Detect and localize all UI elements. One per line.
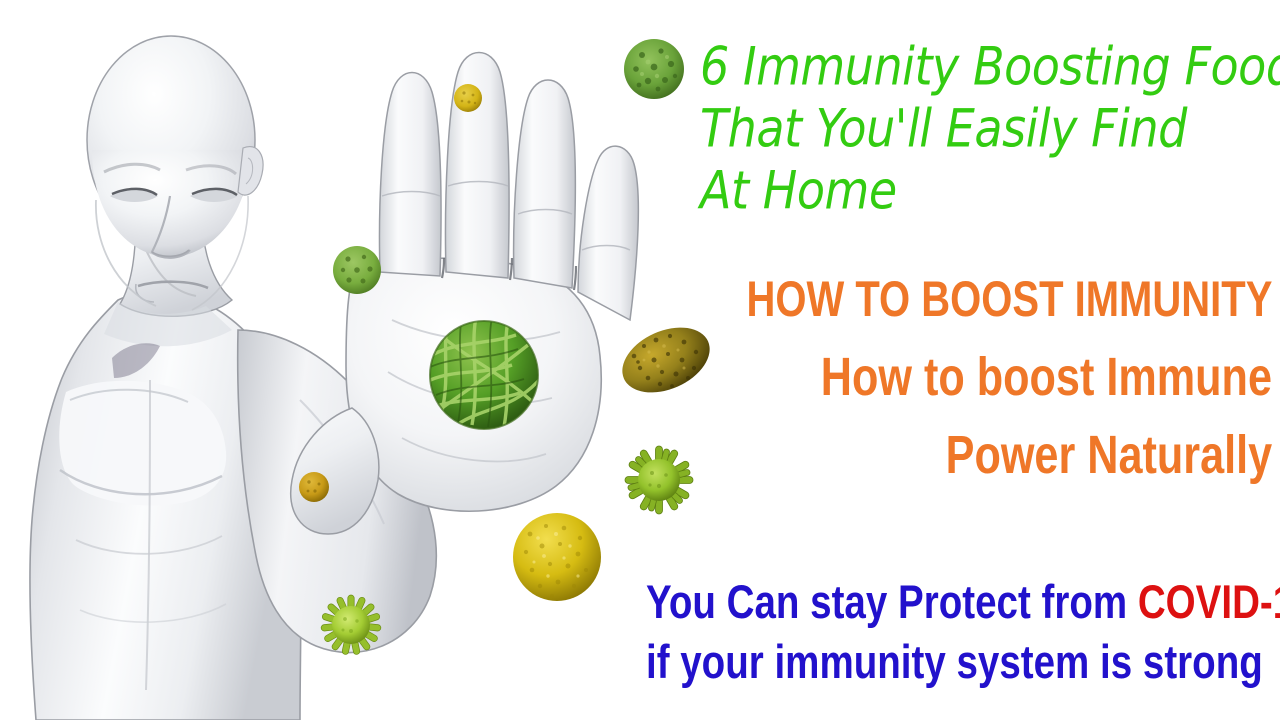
germ-gold-sphere-bottom [508,508,606,606]
subheadline-line-1: HOW TO BOOST IMMUNITY [746,274,1272,324]
headline-line-1: 6 Immunity Boosting Foods [700,40,1280,93]
footer-line-1-text: You Can stay Protect from [646,575,1138,628]
germ-green-web-palm [424,315,544,435]
footer-line-2: if your immunity system is strong [646,638,1263,685]
germ-green-spiky-right [622,443,696,517]
headline-line-3: At Home [700,164,1280,217]
subheadline-line-3-wrap: Power Naturally [864,428,1272,482]
subheadline-line-2-wrap: How to boost Immune [708,350,1272,404]
germ-green-fuzzy-left [330,243,384,297]
subheadline-line-1-wrap: HOW TO BOOST IMMUNITY [615,274,1272,324]
germ-gold-dot-chest [297,470,331,504]
poster-canvas: 6 Immunity Boosting Foods That You'll Ea… [0,0,1280,720]
footer-line-1-wrap: You Can stay Protect from COVID-19 [646,578,1280,625]
germ-green-spiky-body [318,592,384,658]
footer-line-1: You Can stay Protect from COVID-19 [646,578,1280,625]
subheadline-line-3: Power Naturally [945,428,1272,482]
headline-block: 6 Immunity Boosting Foods That You'll Ea… [700,40,1280,226]
footer-line-2-wrap: if your immunity system is strong [646,638,1280,685]
germ-gold-dot-fingers [452,82,484,114]
headline-line-2: That You'll Easily Find [700,102,1280,155]
footer-covid-highlight: COVID-19 [1138,575,1280,628]
subheadline-line-2: How to boost Immune [821,350,1272,404]
germ-green-fuzzy-top [620,35,688,103]
